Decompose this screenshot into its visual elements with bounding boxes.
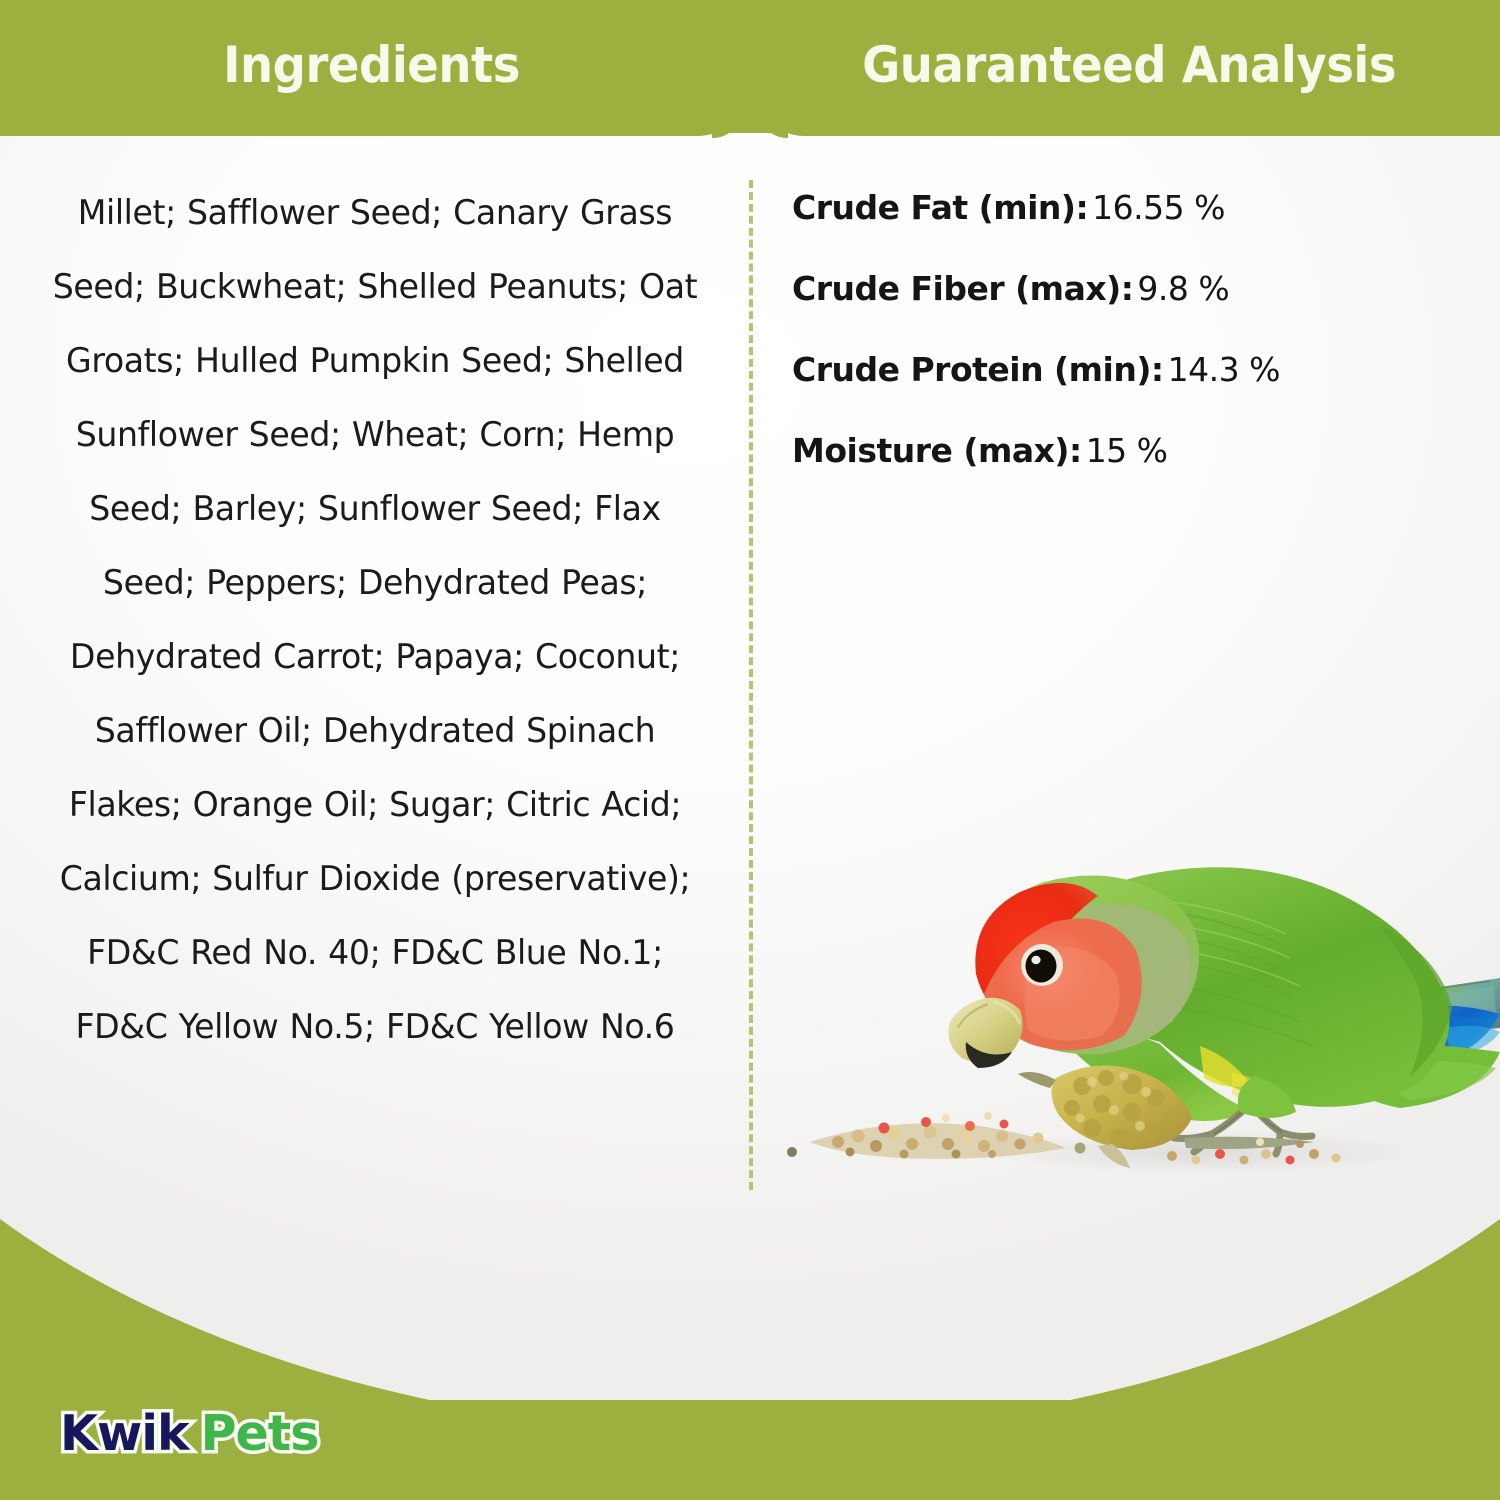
logo-text-kwik: Kwik — [60, 1405, 189, 1462]
analysis-list: Crude Fat (min):16.55 % Crude Fiber (max… — [750, 136, 1500, 470]
analysis-value: 16.55 % — [1092, 188, 1225, 227]
ingredients-column: Millet; Safflower Seed; Canary Grass See… — [0, 136, 750, 1196]
analysis-value: 9.8 % — [1137, 269, 1229, 308]
analysis-row: Crude Fiber (max):9.8 % — [792, 269, 1470, 308]
analysis-value: 14.3 % — [1168, 350, 1280, 389]
kwik-pets-logo[interactable]: KwikPets — [60, 1409, 318, 1458]
analysis-label: Moisture (max): — [792, 431, 1082, 470]
analysis-row: Crude Protein (min):14.3 % — [792, 350, 1470, 389]
analysis-row: Crude Fat (min):16.55 % — [792, 188, 1470, 227]
infographic-canvas: Ingredients Guaranteed Analysis Millet; … — [0, 0, 1500, 1500]
logo-text-pets: Pets — [201, 1405, 319, 1462]
analysis-value: 15 % — [1086, 431, 1168, 470]
analysis-row: Moisture (max):15 % — [792, 431, 1470, 470]
analysis-label: Crude Protein (min): — [792, 350, 1164, 389]
tab-guaranteed-analysis-label: Guaranteed Analysis — [862, 36, 1396, 94]
content-columns: Millet; Safflower Seed; Canary Grass See… — [0, 136, 1500, 1196]
header-tabs: Ingredients Guaranteed Analysis — [0, 0, 1500, 136]
analysis-label: Crude Fat (min): — [792, 188, 1088, 227]
analysis-label: Crude Fiber (max): — [792, 269, 1133, 308]
tab-ingredients-label: Ingredients — [224, 36, 521, 94]
analysis-column: Crude Fat (min):16.55 % Crude Fiber (max… — [750, 136, 1500, 1196]
ingredients-text: Millet; Safflower Seed; Canary Grass See… — [9, 136, 740, 1064]
tab-guaranteed-analysis[interactable]: Guaranteed Analysis — [758, 0, 1500, 136]
footer-band: KwikPets — [0, 1300, 1500, 1500]
tab-ingredients[interactable]: Ingredients — [0, 0, 744, 136]
